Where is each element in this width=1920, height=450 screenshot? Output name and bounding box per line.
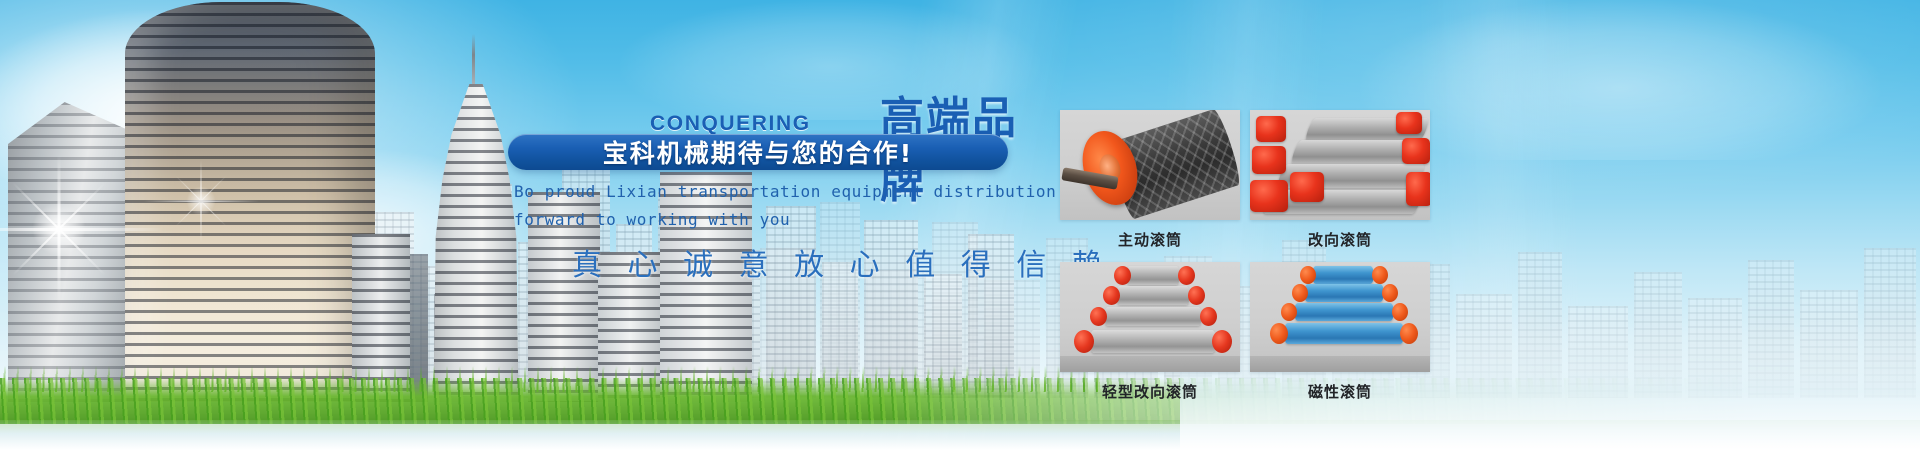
product-image-drive-pulley [1060,110,1240,220]
chinese-slogan: 真 心 诚 意 放 心 值 得 信 赖 [572,240,1110,284]
product-card[interactable]: 主动滚筒 [1060,110,1240,256]
product-image-magnetic-pulley [1250,262,1430,372]
headline-english-kicker: CONQUERING [650,112,811,136]
product-grid: 主动滚筒 改向滚筒 [1060,110,1430,408]
headline-copy-block: CONQUERING 高端品牌 宝科机械期待与您的合作! Bo proud Li… [0,0,1060,450]
product-image-bend-pulley [1250,110,1430,220]
product-card[interactable]: 磁性滚筒 [1250,262,1430,408]
product-caption: 主动滚筒 [1060,220,1240,256]
product-caption: 磁性滚筒 [1250,372,1430,408]
product-image-light-bend-pulley [1060,262,1240,372]
product-caption: 改向滚筒 [1250,220,1430,256]
english-paragraph-line-1: Bo proud Lixian transportation equipment… [514,182,1108,201]
english-paragraph-line-2: forward to working with you [514,210,790,229]
product-caption: 轻型改向滚筒 [1060,372,1240,408]
product-card[interactable]: 改向滚筒 [1250,110,1430,256]
product-card[interactable]: 轻型改向滚筒 [1060,262,1240,408]
headline-pill-text: 宝科机械期待与您的合作! [508,134,1008,170]
hero-banner: CONQUERING 高端品牌 宝科机械期待与您的合作! Bo proud Li… [0,0,1920,450]
